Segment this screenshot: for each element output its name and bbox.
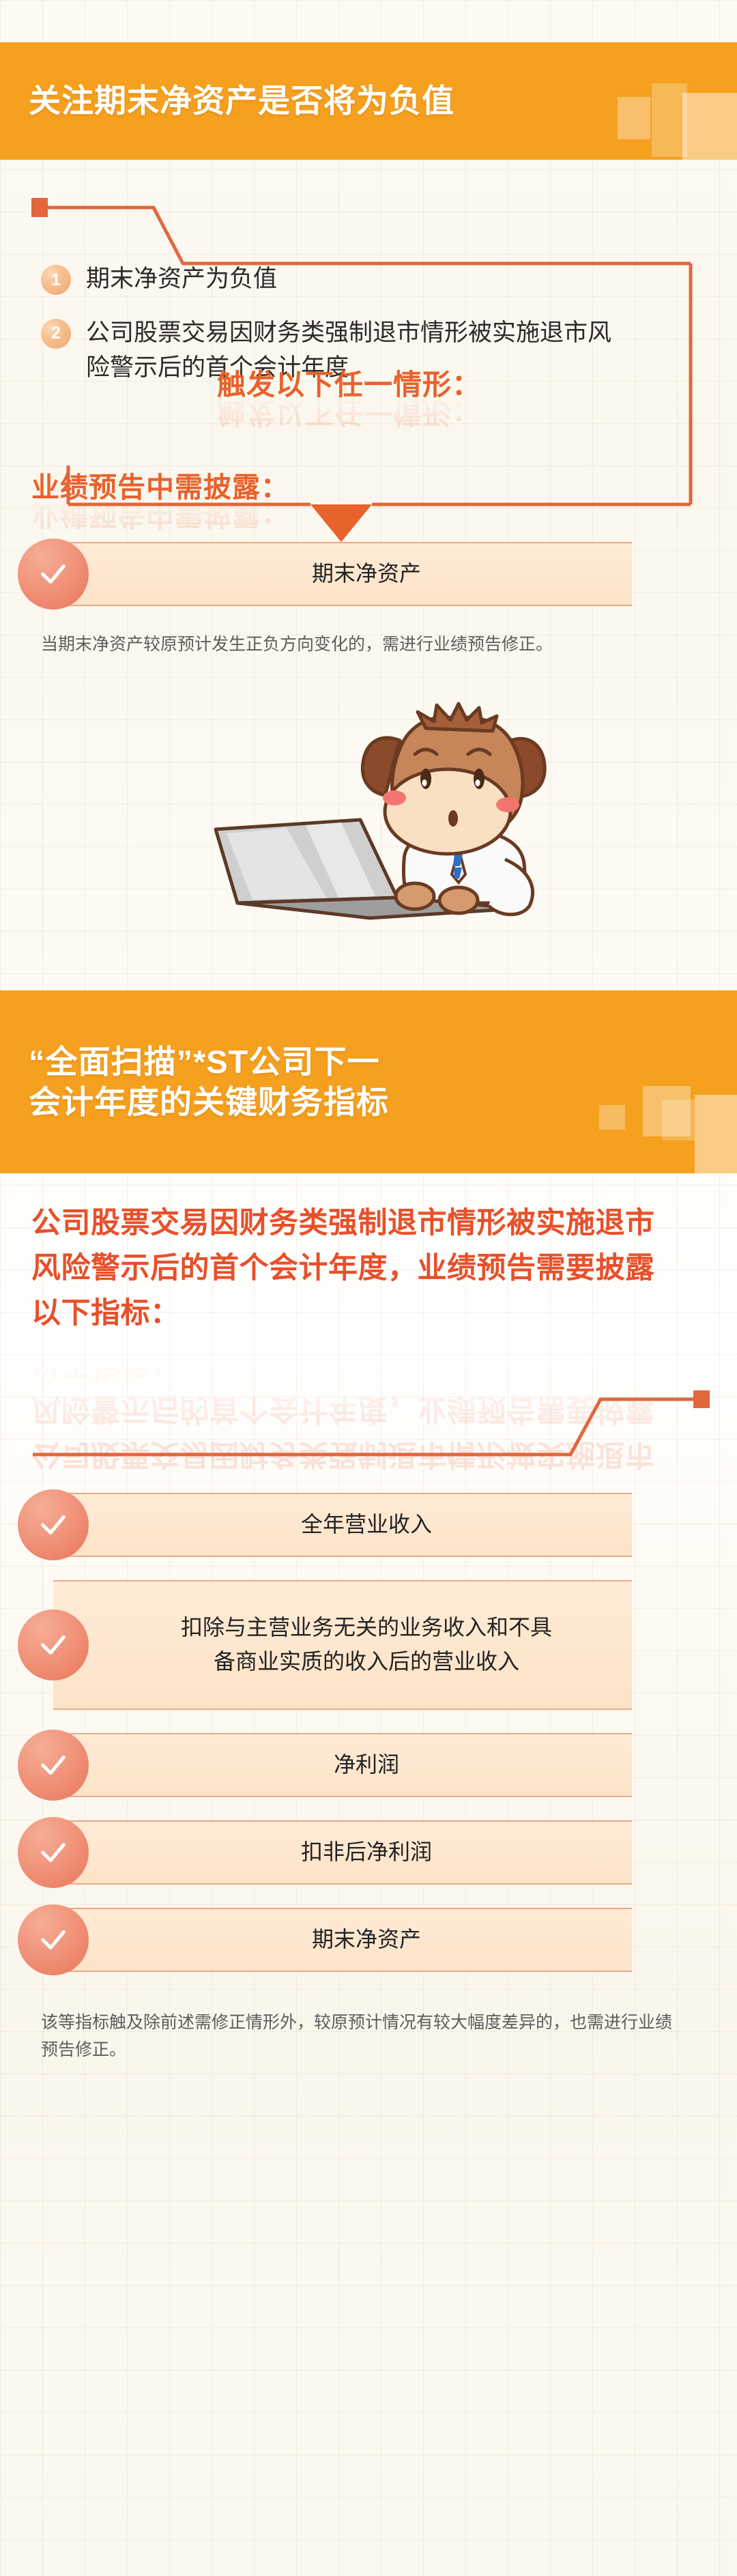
section2-header-band: “全面扫描”*ST公司下一 会计年度的关键财务指标: [0, 990, 737, 1173]
check-list-item: 扣除与主营业务无关的业务收入和不具备商业实质的收入后的营业收入: [53, 1580, 632, 1710]
section2-body: 公司股票交易因财务类强制退市情形被实施退市风险警示后的首个会计年度，业绩预告需要…: [0, 1201, 737, 2064]
section2-title: “全面扫描”*ST公司下一 会计年度的关键财务指标: [0, 1042, 389, 1122]
numbered-item-text: 期末净资产为负值: [86, 262, 277, 297]
section2-lead-block: 公司股票交易因财务类强制退市情形被实施退市风险警示后的首个会计年度，业绩预告需要…: [31, 1201, 737, 1405]
disclose-heading-reflection: 业绩预告中需披露：: [31, 497, 289, 538]
check-item-label: 扣非后净利润: [142, 1835, 591, 1870]
bar-chart-deco-icon: [695, 1095, 737, 1173]
check-icon: [18, 1609, 89, 1680]
check-icon: [18, 539, 89, 610]
check-list-item: 期末净资产: [53, 1908, 632, 1972]
check-list-item: 扣非后净利润: [53, 1820, 632, 1885]
check-item-label: 扣除与主营业务无关的业务收入和不具备商业实质的收入后的营业收入: [175, 1611, 558, 1678]
bar-chart-deco-icon: [682, 93, 737, 160]
section2-check-list: 全年营业收入 扣除与主营业务无关的业务收入和不具备商业实质的收入后的营业收入: [0, 1493, 737, 1972]
check-item-label: 期末净资产: [142, 557, 591, 591]
section1-header-band: 关注期末净资产是否将为负值: [0, 42, 737, 160]
section2-lead-paragraph: 公司股票交易因财务类强制退市情形被实施退市风险警示后的首个会计年度，业绩预告需要…: [31, 1201, 673, 1336]
check-item-label: 全年营业收入: [142, 1508, 591, 1542]
decorative-line-marker: [0, 1386, 737, 1468]
check-item-label: 净利润: [142, 1748, 591, 1782]
check-icon: [18, 1730, 89, 1801]
number-badge-2: 2: [41, 319, 71, 349]
check-item-label: 期末净资产: [142, 1923, 591, 1957]
numbered-item: 1 期末净资产为负值: [41, 262, 737, 297]
section2-title-line2: 会计年度的关键财务指标: [29, 1082, 389, 1122]
check-icon: [18, 1904, 89, 1975]
section2-title-line1: “全面扫描”*ST公司下一: [29, 1042, 389, 1082]
section1-body: 触发以下任一情形： 触发以下任一情形： 1 期末净资产为负值 2 公司股票交易因…: [0, 160, 737, 951]
number-badge-1: 1: [41, 265, 71, 295]
bar-chart-deco-icon: [662, 1100, 695, 1141]
section1-footnote: 当期末净资产较原预计发生正负方向变化的，需进行业绩预告修正。: [41, 631, 676, 659]
check-icon: [18, 1817, 89, 1888]
bar-chart-deco-icon: [599, 1105, 625, 1130]
section2-footnote: 该等指标触及除前述需修正情形外，较原预计情况有较大幅度差异的，也需进行业绩预告修…: [41, 2009, 676, 2064]
check-list-item: 全年营业收入: [53, 1493, 632, 1557]
infographic-page: 关注期末净资产是否将为负值 触发以下任一情形： 触发以下任一情形：: [0, 0, 737, 2576]
check-icon: [18, 1489, 89, 1560]
trigger-conditions-list: 1 期末净资产为负值 2 公司股票交易因财务类强制退市情形被实施退市风险警示后的…: [0, 160, 737, 385]
section1-title: 关注期末净资产是否将为负值: [0, 81, 454, 121]
check-list-item: 净利润: [53, 1733, 632, 1797]
trigger-heading-reflection: 触发以下任一情形：: [217, 394, 481, 435]
bull-with-laptop-illustration: [150, 678, 587, 951]
check-list-item: 期末净资产: [53, 542, 632, 606]
bar-chart-deco-icon: [618, 97, 650, 139]
trigger-heading: 触发以下任一情形： 触发以下任一情形：: [217, 362, 481, 403]
disclose-heading-block: 业绩预告中需披露： 业绩预告中需披露：: [31, 464, 737, 546]
section1-check-list: 期末净资产: [0, 542, 737, 606]
